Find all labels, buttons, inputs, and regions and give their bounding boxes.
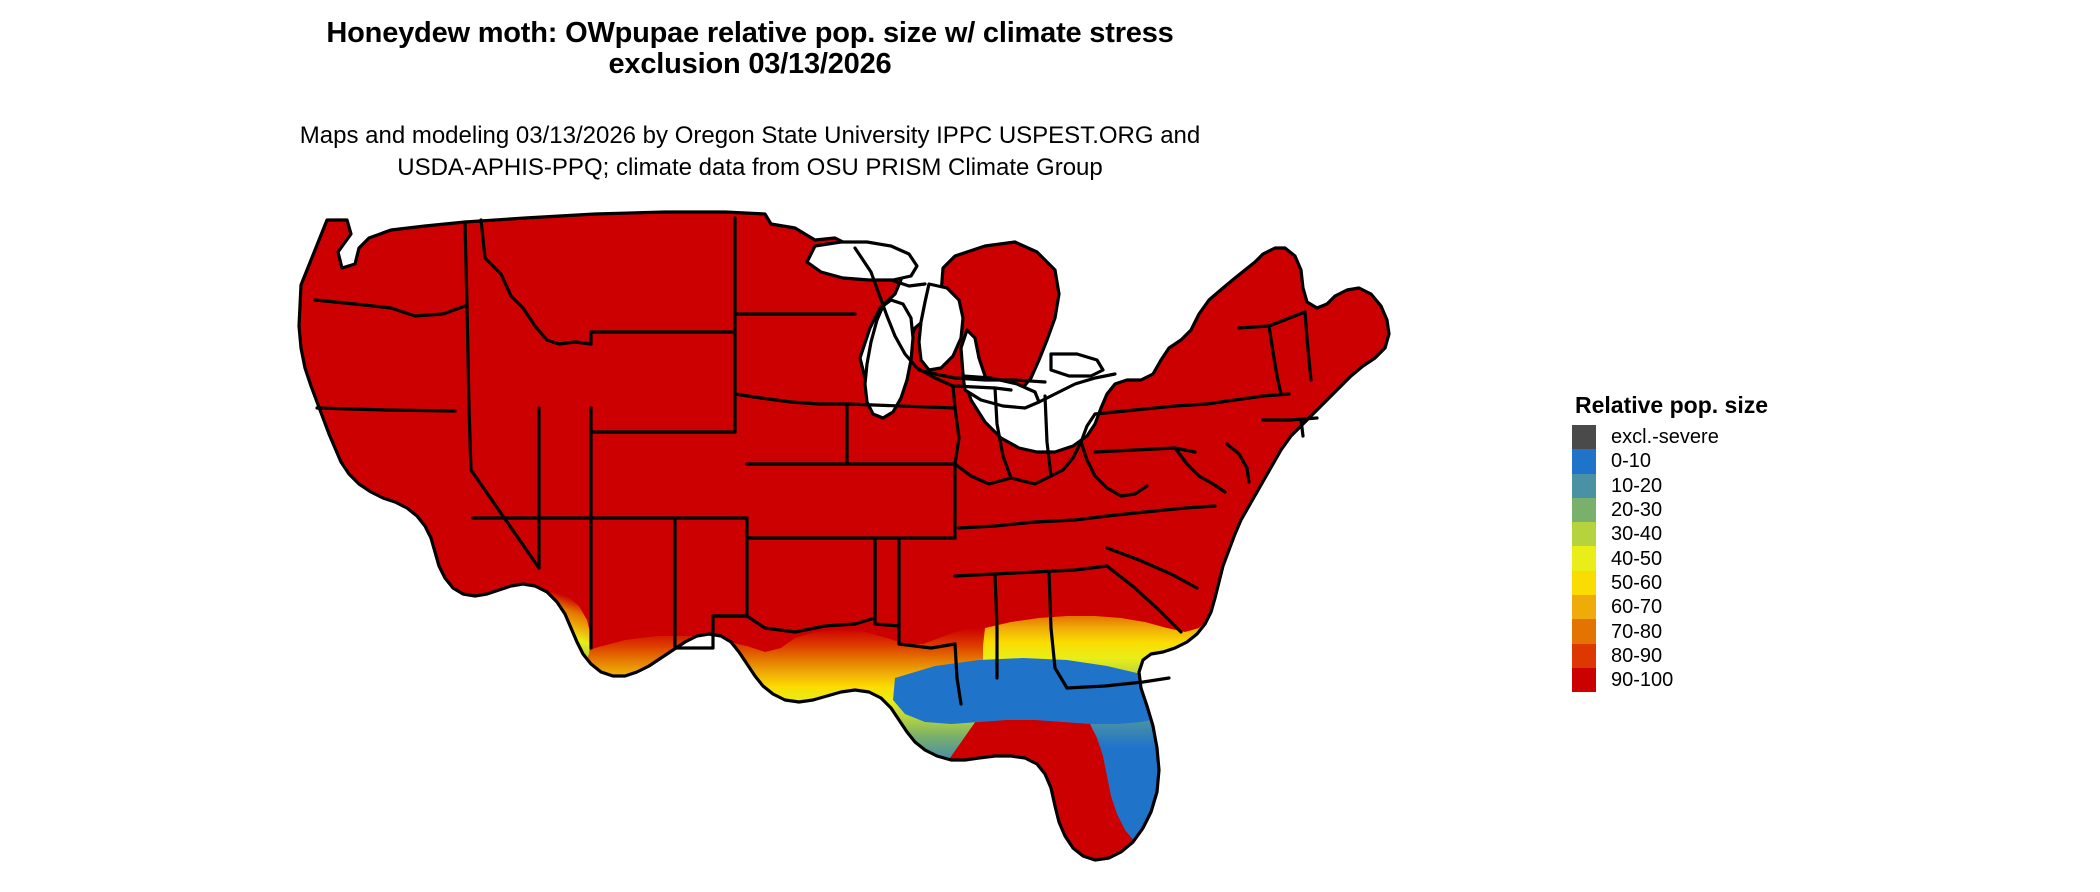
legend-row[interactable]: 0-10 [1572,449,1902,473]
legend-items: excl.-severe0-1010-2020-3030-4040-5050-6… [1572,425,1902,692]
page-title: Honeydew moth: OWpupae relative pop. siz… [0,18,1500,80]
us-choropleth-map [295,208,1555,868]
legend-label: 90-100 [1611,670,1673,690]
legend-color-swatch [1572,546,1596,570]
class-0-10-region-south-central [545,628,1001,864]
class-0-10-core-socal [405,628,557,692]
legend-label: 0-10 [1611,451,1651,471]
legend-row[interactable]: excl.-severe [1572,425,1902,449]
border-ct-ri [1301,420,1303,436]
page-subtitle: Maps and modeling 03/13/2026 by Oregon S… [0,120,1500,183]
legend-color-swatch [1572,449,1596,473]
legend-color-swatch [1572,644,1596,668]
legend-row[interactable]: 90-100 [1572,668,1902,692]
legend-label: 40-50 [1611,549,1662,569]
legend-color-swatch [1572,595,1596,619]
legend-label: 50-60 [1611,573,1662,593]
class-0-10-core-texas [581,702,847,864]
title-line-2: exclusion 03/13/2026 [0,49,1500,80]
map-svg [295,208,1555,868]
map-figure: Honeydew moth: OWpupae relative pop. siz… [0,0,2100,892]
legend-row[interactable]: 80-90 [1572,644,1902,668]
legend-row[interactable]: 70-80 [1572,619,1902,643]
legend-row[interactable]: 30-40 [1572,522,1902,546]
legend-color-swatch [1572,425,1596,449]
title-line-1: Honeydew moth: OWpupae relative pop. siz… [0,18,1500,49]
subtitle-line-1: Maps and modeling 03/13/2026 by Oregon S… [0,120,1500,152]
legend-label: 80-90 [1611,646,1662,666]
legend-title: Relative pop. size [1575,392,1902,419]
legend: Relative pop. size excl.-severe0-1010-20… [1572,392,1902,692]
legend-row[interactable]: 40-50 [1572,546,1902,570]
legend-row[interactable]: 10-20 [1572,474,1902,498]
legend-label: 10-20 [1611,476,1662,496]
border-ny-lake [1039,374,1115,402]
legend-color-swatch [1572,668,1596,692]
subtitle-line-2: USDA-APHIS-PPQ; climate data from OSU PR… [0,152,1500,184]
legend-row[interactable]: 20-30 [1572,498,1902,522]
legend-color-swatch [1572,522,1596,546]
legend-color-swatch [1572,474,1596,498]
legend-label: excl.-severe [1611,427,1719,447]
legend-label: 20-30 [1611,500,1662,520]
legend-label: 30-40 [1611,524,1662,544]
legend-label: 60-70 [1611,597,1662,617]
legend-color-swatch [1572,498,1596,522]
legend-color-swatch [1572,619,1596,643]
class-0-10-region-southwest [351,592,591,706]
legend-label: 70-80 [1611,622,1662,642]
class-0-10-core-florida [1149,672,1231,844]
legend-row[interactable]: 50-60 [1572,571,1902,595]
legend-color-swatch [1572,571,1596,595]
legend-row[interactable]: 60-70 [1572,595,1902,619]
lake-ontario [1051,354,1103,376]
